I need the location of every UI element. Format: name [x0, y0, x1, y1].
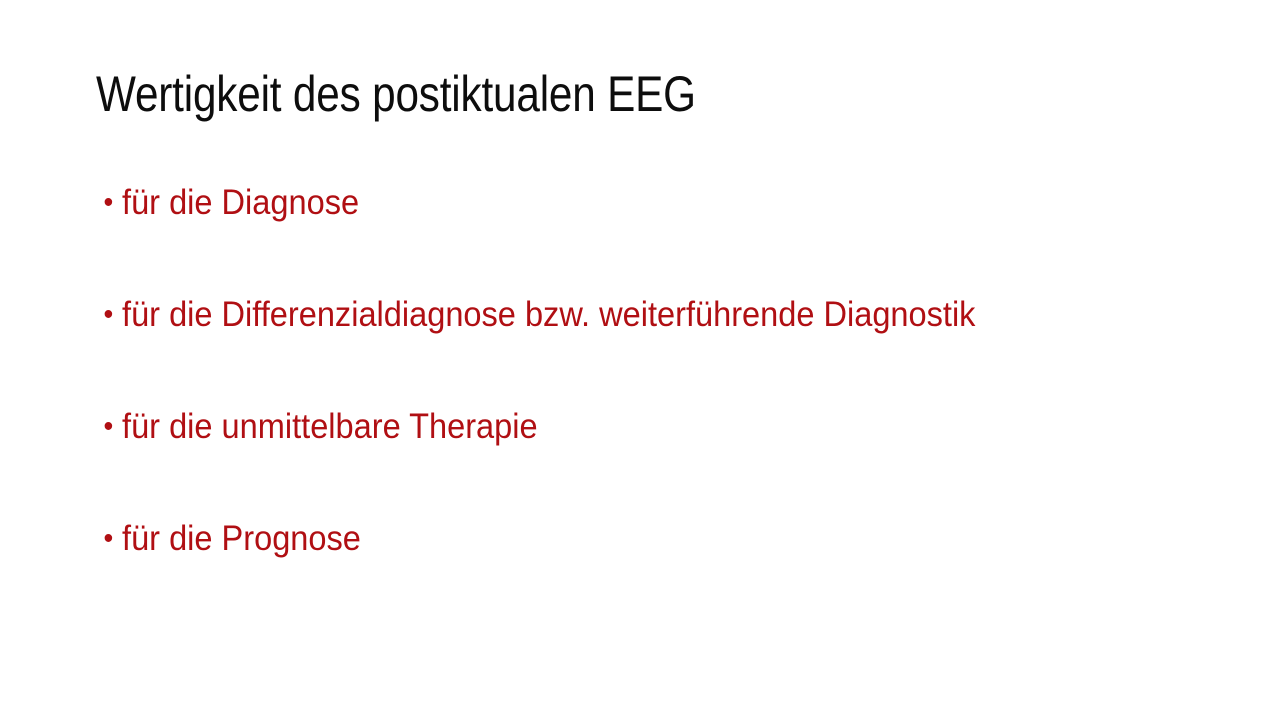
bullet-point-icon: •	[103, 292, 116, 338]
bullet-point-icon: •	[103, 404, 116, 450]
list-item: • für die unmittelbare Therapie	[96, 404, 1115, 450]
bullet-point-icon: •	[103, 180, 116, 226]
list-item: • für die Differenzialdiagnose bzw. weit…	[96, 292, 1115, 338]
list-item-label: für die Differenzialdiagnose bzw. weiter…	[122, 292, 1115, 338]
presentation-slide: Wertigkeit des postiktualen EEG • für di…	[0, 0, 1280, 720]
list-item-label: für die Diagnose	[122, 180, 1115, 226]
slide-body-placeholder: • für die Diagnose • für die Differenzia…	[96, 180, 1192, 562]
list-item: • für die Diagnose	[96, 180, 1115, 226]
list-item-label: für die unmittelbare Therapie	[122, 404, 1115, 450]
page-title: Wertigkeit des postiktualen EEG	[96, 64, 1017, 124]
slide-title-placeholder: Wertigkeit des postiktualen EEG	[96, 64, 1186, 136]
list-item: • für die Prognose	[96, 516, 1115, 562]
list-item-label: für die Prognose	[122, 516, 1115, 562]
bullet-point-icon: •	[103, 516, 116, 562]
